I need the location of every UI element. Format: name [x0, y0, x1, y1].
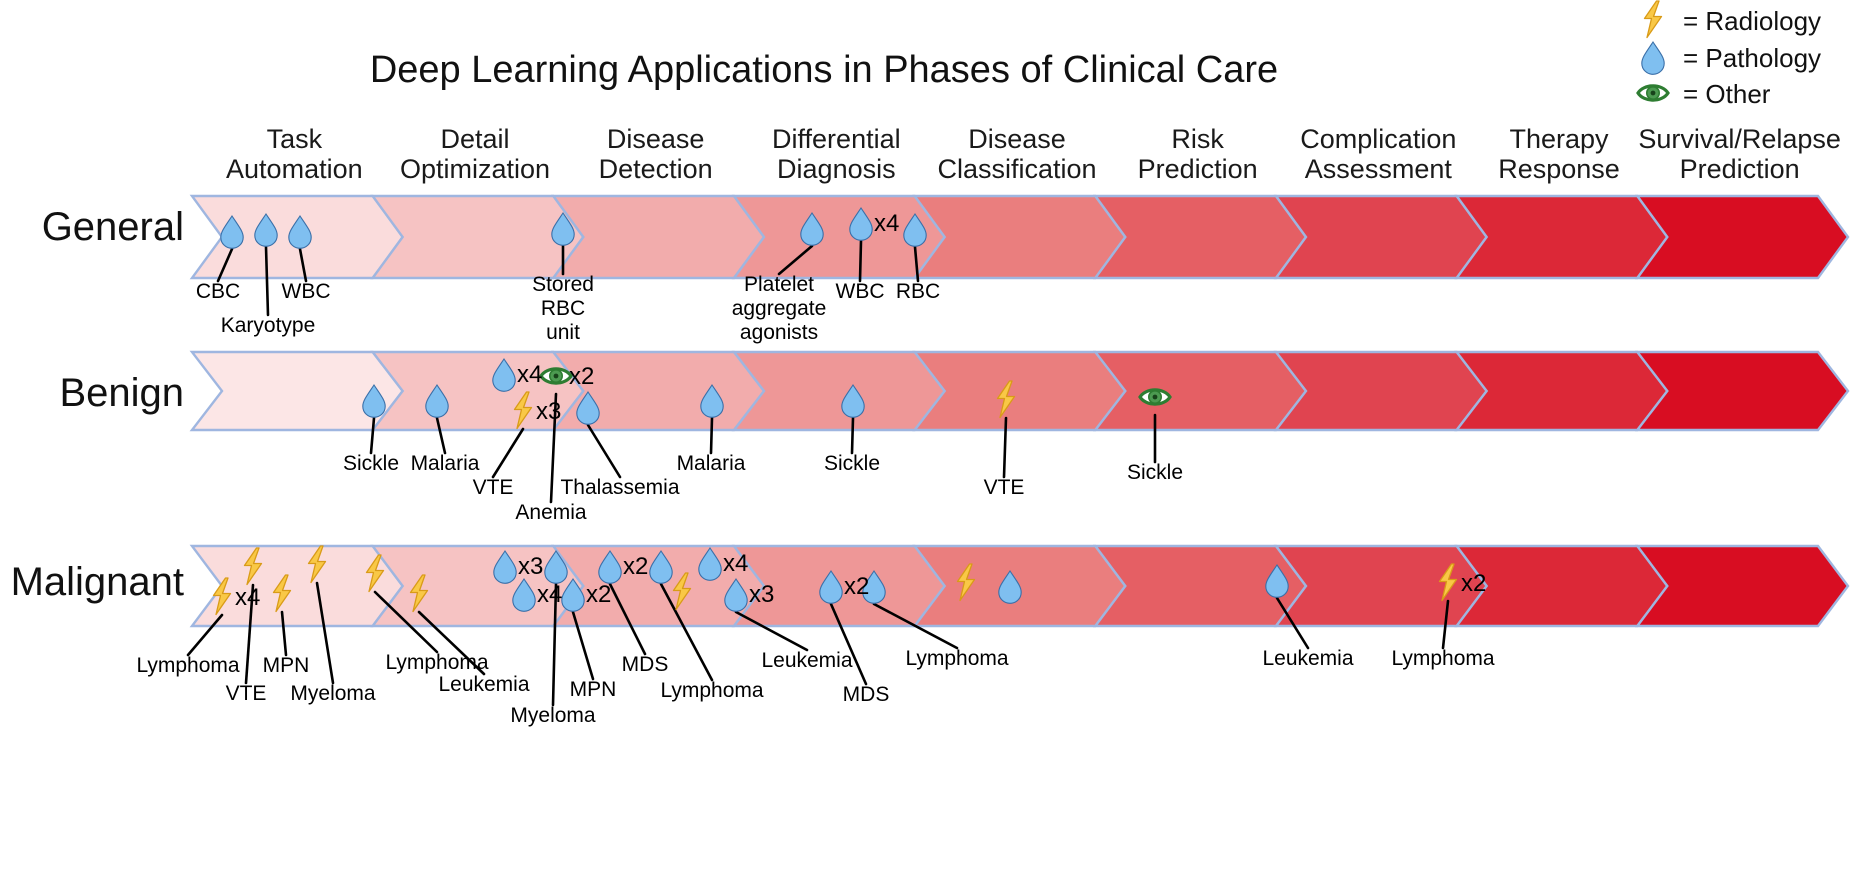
column-header-line1: Differential: [772, 124, 901, 154]
lightning-bolt-icon: [1645, 1, 1662, 38]
phase-band-segment: [915, 196, 1126, 278]
marker-multiplier: x4: [517, 361, 542, 388]
marker-label: Sickle: [343, 452, 399, 475]
marker-multiplier: x3: [536, 398, 561, 425]
marker-label: Leukemia: [761, 649, 852, 672]
marker-label: CBC: [196, 280, 240, 303]
marker-label: Lymphoma: [660, 679, 763, 702]
column-headers: TaskAutomationDetailOptimizationDiseaseD…: [226, 124, 1841, 184]
marker-multiplier: x3: [518, 553, 543, 580]
phase-band-segment: [1095, 196, 1306, 278]
legend-label: = Other: [1683, 79, 1771, 109]
phase-band-segment: [1637, 546, 1848, 626]
column-header-line2: Automation: [226, 154, 363, 184]
phase-band-segment: [1457, 546, 1668, 626]
eye-icon: [1638, 86, 1668, 100]
column-header-line1: Risk: [1171, 124, 1224, 154]
marker-label: Lymphoma: [1391, 647, 1494, 670]
phase-band-segment: [553, 196, 764, 278]
marker-multiplier: x2: [844, 573, 869, 600]
marker-label: VTE: [226, 682, 267, 705]
marker-label: Sickle: [824, 452, 880, 475]
page-title: Deep Learning Applications in Phases of …: [370, 49, 1278, 91]
marker-label: RBC: [896, 280, 940, 303]
marker-multiplier: x4: [874, 210, 899, 237]
marker-label: Myeloma: [510, 704, 596, 727]
phase-band-segment: [915, 546, 1126, 626]
marker-label: VTE: [473, 476, 514, 499]
column-header-line2: Response: [1498, 154, 1620, 184]
marker-label: Leukemia: [1262, 647, 1353, 670]
column-header-line1: Complication: [1300, 124, 1456, 154]
marker-label: Karyotype: [221, 314, 316, 337]
column-header-line2: Detection: [599, 154, 713, 184]
phase-band-segment: [1276, 196, 1487, 278]
phase-band-segment: [1457, 196, 1668, 278]
row-label-malignant: Malignant: [11, 560, 184, 604]
phase-band-segment: [1095, 352, 1306, 430]
marker-multiplier: x4: [723, 550, 748, 577]
column-header-line1: Task: [267, 124, 323, 154]
marker-multiplier: x3: [749, 581, 774, 608]
marker-label: WBC: [282, 280, 331, 303]
marker-label: VTE: [984, 476, 1025, 499]
column-header-line1: Detail: [440, 124, 509, 154]
marker-multiplier: x4: [537, 581, 562, 608]
marker-label: Lymphoma: [136, 654, 239, 677]
marker-multiplier: x2: [586, 581, 611, 608]
leader-line: [588, 425, 620, 477]
marker-label: StoredRBCunit: [532, 273, 594, 344]
phase-band-segment: [734, 352, 945, 430]
marker-label: WBC: [836, 280, 885, 303]
infographic-root: Deep Learning Applications in Phases of …: [0, 0, 1864, 883]
eye-icon: [1140, 390, 1170, 404]
marker-label: Anemia: [515, 501, 587, 524]
marker-label: Malaria: [677, 452, 746, 475]
column-header-line1: Therapy: [1509, 124, 1609, 154]
marker-label: MDS: [843, 683, 890, 706]
column-header-line2: Prediction: [1138, 154, 1258, 184]
marker-multiplier: x2: [1461, 570, 1486, 597]
column-header-line2: Classification: [937, 154, 1096, 184]
phase-band-segment: [1637, 352, 1848, 430]
leader-line: [711, 418, 712, 453]
legend: = Radiology= Pathology= Other: [1638, 1, 1821, 109]
row-label-benign: Benign: [59, 371, 184, 415]
marker-label: MPN: [570, 678, 617, 701]
marker-label: Lymphoma: [905, 647, 1008, 670]
marker-label: Thalassemia: [560, 476, 679, 499]
column-header-line1: Disease: [607, 124, 705, 154]
marker-label: Malaria: [411, 452, 480, 475]
marker-label: MDS: [622, 653, 669, 676]
water-droplet-icon: [1642, 42, 1664, 74]
phase-band-segment: [1457, 352, 1668, 430]
row-labels: GeneralBenignMalignant: [11, 205, 184, 604]
leader-line: [852, 418, 853, 453]
column-header-line1: Disease: [968, 124, 1066, 154]
phase-band-segment: [1637, 196, 1848, 278]
phase-band-segment: [1276, 352, 1487, 430]
leader-line: [493, 429, 523, 477]
phase-band-segment: [1276, 546, 1487, 626]
legend-label: = Radiology: [1683, 6, 1821, 36]
legend-label: = Pathology: [1683, 43, 1821, 73]
column-header-line2: Assessment: [1305, 154, 1453, 184]
column-header-line1: Survival/Relapse: [1638, 124, 1841, 154]
marker-label: Leukemia: [438, 673, 529, 696]
marker-label: Lymphoma: [385, 651, 488, 674]
marker-labels: CBCKaryotypeWBCStoredRBCunitPlateletaggr…: [136, 210, 1494, 727]
marker-multiplier: x2: [623, 553, 648, 580]
leader-line: [860, 241, 861, 281]
clinical-care-phases-diagram: Deep Learning Applications in Phases of …: [0, 0, 1864, 883]
column-header-line2: Diagnosis: [777, 154, 896, 184]
eye-icon: [541, 369, 571, 383]
marker-multiplier: x2: [569, 363, 594, 390]
marker-label: Myeloma: [290, 682, 376, 705]
marker-label: Plateletaggregateagonists: [732, 273, 827, 344]
marker-label: Sickle: [1127, 461, 1183, 484]
column-header-line2: Prediction: [1680, 154, 1800, 184]
column-header-line2: Optimization: [400, 154, 550, 184]
marker-multiplier: x4: [235, 584, 260, 611]
phase-band-segment: [915, 352, 1126, 430]
row-label-general: General: [42, 205, 184, 249]
marker-label: MPN: [263, 654, 310, 677]
